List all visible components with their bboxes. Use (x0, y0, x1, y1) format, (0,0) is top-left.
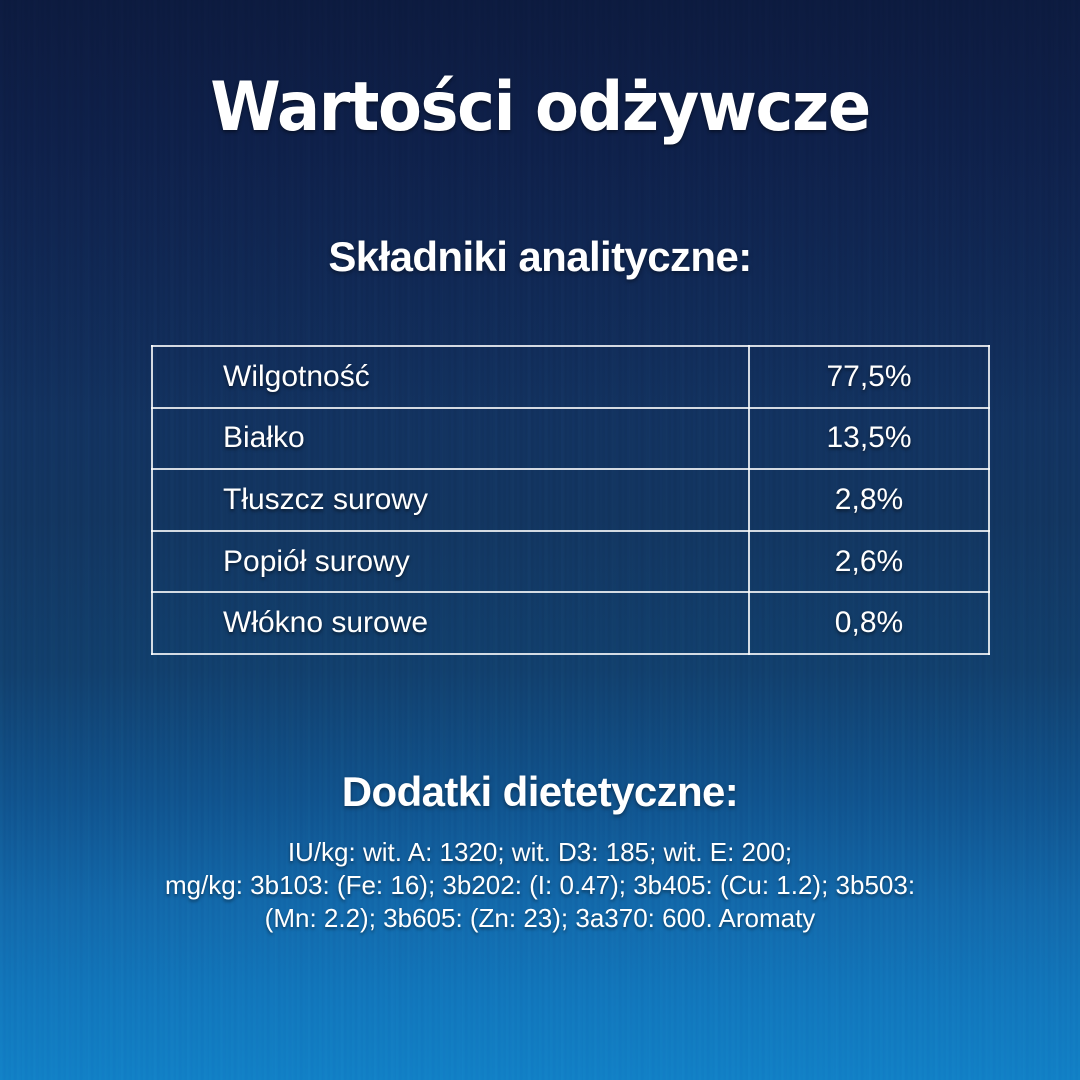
table-row: Popiół surowy2,6% (152, 531, 989, 593)
nutrient-name-cell: Tłuszcz surowy (152, 469, 749, 531)
nutrient-value-cell: 2,8% (749, 469, 989, 531)
page-title: Wartości odżywcze (32, 74, 1047, 142)
nutrient-name-cell: Popiół surowy (152, 531, 749, 593)
table-row: Tłuszcz surowy2,8% (152, 469, 989, 531)
additives-section-heading: Dodatki dietetyczne: (0, 768, 1080, 816)
panel-content: Wartości odżywcze Składniki analityczne:… (0, 0, 1080, 1080)
table-row: Wilgotność77,5% (152, 346, 989, 408)
additives-line: IU/kg: wit. A: 1320; wit. D3: 185; wit. … (0, 836, 1080, 869)
table-row: Białko13,5% (152, 408, 989, 470)
analytical-section-heading: Składniki analityczne: (0, 233, 1080, 281)
additives-detail-text: IU/kg: wit. A: 1320; wit. D3: 185; wit. … (0, 836, 1080, 935)
additives-line: mg/kg: 3b103: (Fe: 16); 3b202: (I: 0.47)… (0, 869, 1080, 902)
analytical-composition-table: Wilgotność77,5%Białko13,5%Tłuszcz surowy… (151, 345, 990, 655)
additives-line: (Mn: 2.2); 3b605: (Zn: 23); 3a370: 600. … (0, 902, 1080, 935)
table-row: Włókno surowe0,8% (152, 592, 989, 654)
nutrient-value-cell: 2,6% (749, 531, 989, 593)
nutrient-value-cell: 0,8% (749, 592, 989, 654)
nutrient-value-cell: 13,5% (749, 408, 989, 470)
nutrient-name-cell: Białko (152, 408, 749, 470)
nutrition-panel: Wartości odżywcze Składniki analityczne:… (0, 0, 1080, 1080)
nutrient-name-cell: Włókno surowe (152, 592, 749, 654)
nutrient-value-cell: 77,5% (749, 346, 989, 408)
nutrient-name-cell: Wilgotność (152, 346, 749, 408)
